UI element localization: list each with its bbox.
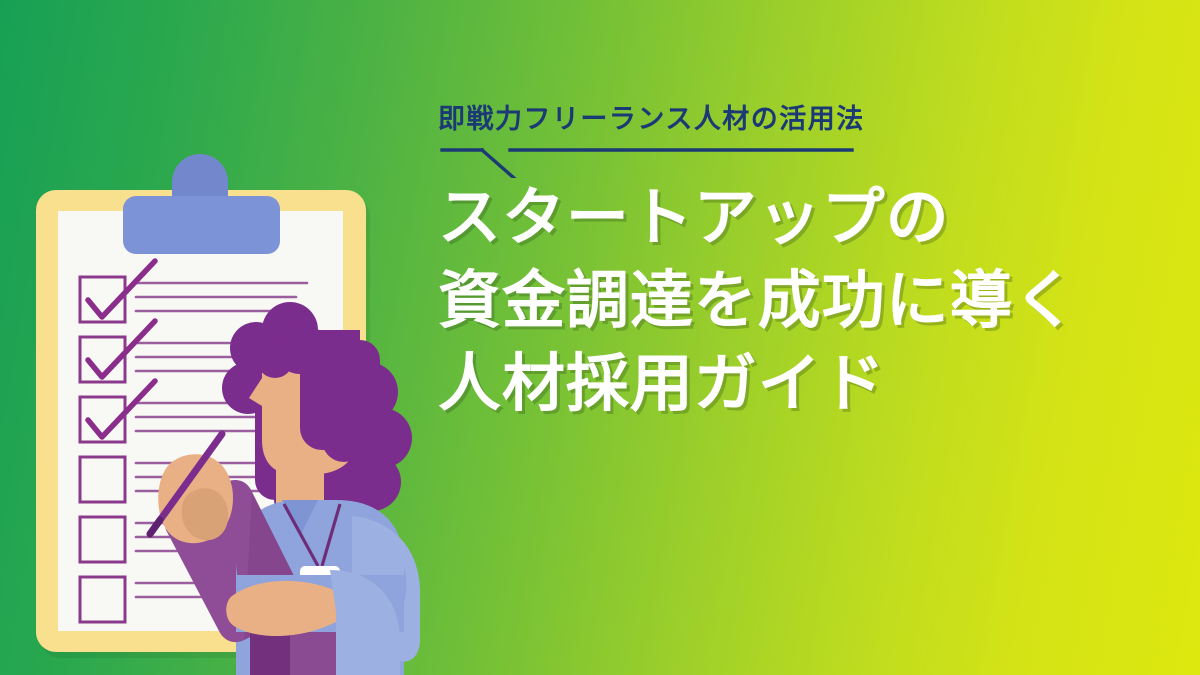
subtitle-underline-rule <box>440 142 860 178</box>
text-block: 即戦力フリーランス人材の活用法 スタートアップの 資金調達を成功に導く 人材採用… <box>438 104 1178 426</box>
rule-diagonal-tick <box>482 150 514 178</box>
title-line-3: 人材採用ガイド <box>438 342 1178 425</box>
subtitle: 即戦力フリーランス人材の活用法 <box>438 104 1178 135</box>
poster-canvas: 即戦力フリーランス人材の活用法 スタートアップの 資金調達を成功に導く 人材採用… <box>0 0 1200 675</box>
title-line-1: スタートアップの <box>438 176 1178 259</box>
hero-illustration <box>0 0 440 675</box>
clipboard-clip <box>123 196 280 254</box>
title-line-2: 資金調達を成功に導く <box>438 259 1178 342</box>
page-title: スタートアップの 資金調達を成功に導く 人材採用ガイド <box>438 176 1178 425</box>
